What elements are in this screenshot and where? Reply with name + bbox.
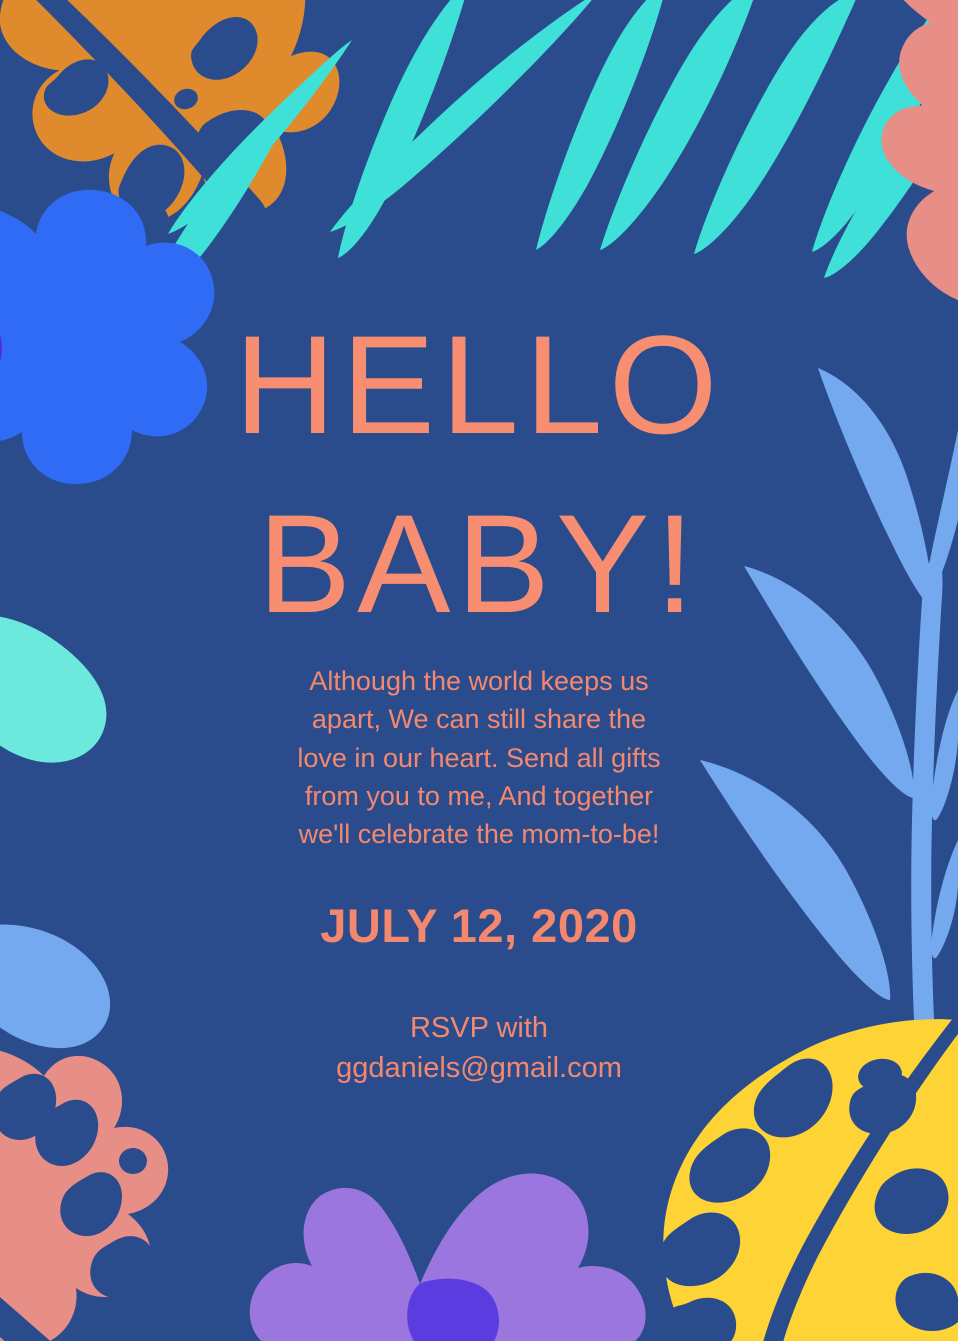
invitation-poster: HELLO BABY! Although the world keeps us …: [0, 0, 958, 1341]
event-date: JULY 12, 2020: [0, 898, 958, 953]
poem-text: Although the world keeps us apart, We ca…: [269, 662, 689, 854]
rsvp-info: RSVP with ggdaniels@gmail.com: [239, 1008, 719, 1088]
page-title: HELLO BABY!: [0, 295, 958, 653]
